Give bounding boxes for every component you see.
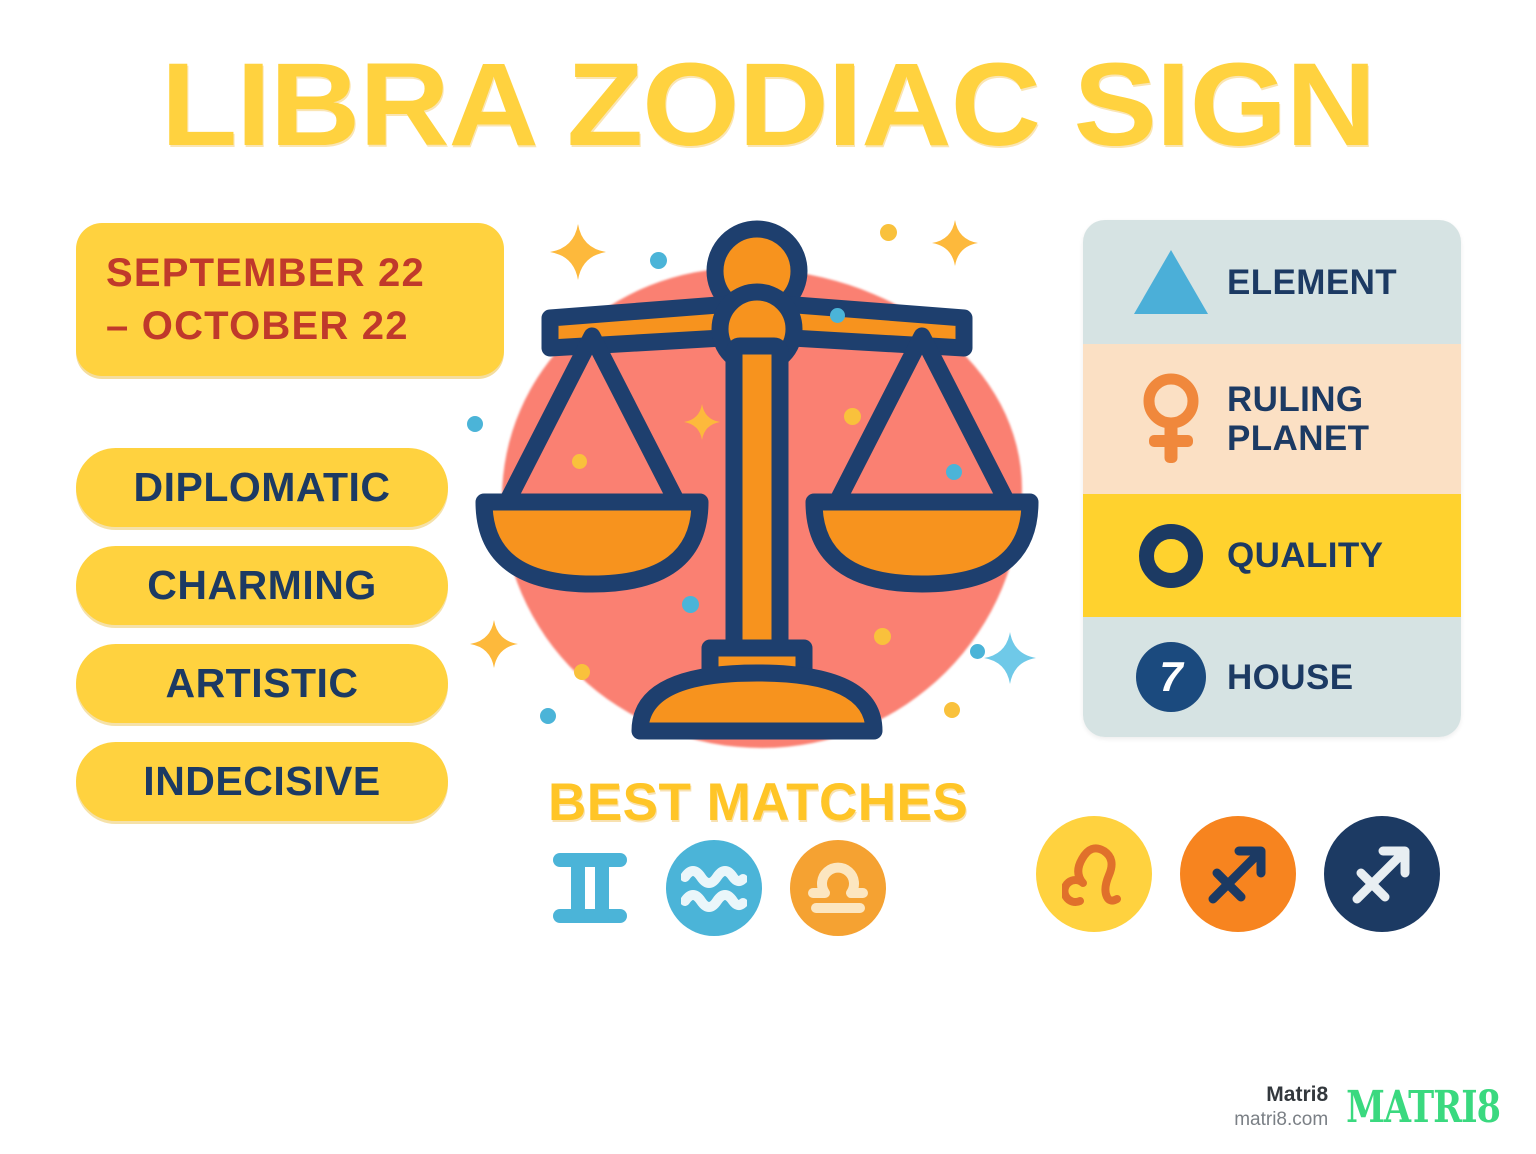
decorative-dot: [682, 596, 699, 613]
trait-pill: INDECISIVE: [76, 742, 448, 821]
decorative-dot: [574, 664, 590, 680]
brand-url: matri8.com: [1234, 1108, 1328, 1132]
decorative-dot: [944, 702, 960, 718]
aquarius-glyph-icon: [681, 861, 747, 915]
cardinal-ring-icon: [1129, 524, 1213, 588]
trait-pill: ARTISTIC: [76, 644, 448, 723]
attribute-label: HOUSE: [1227, 658, 1353, 697]
trait-label: CHARMING: [147, 562, 376, 609]
sparkle-icon: [550, 224, 606, 280]
trait-pill: CHARMING: [76, 546, 448, 625]
air-triangle-icon: [1129, 250, 1213, 314]
date-range-line-1: SEPTEMBER 22: [106, 247, 474, 300]
decorative-dot: [874, 628, 891, 645]
brand-logo: MATRI8: [1346, 1081, 1500, 1132]
trait-label: ARTISTIC: [165, 660, 358, 707]
attributes-panel: ELEMENT RULING PLANET QUALITY 7 HOUSE: [1083, 220, 1461, 737]
sparkle-icon: [684, 404, 720, 440]
infographic-canvas: LIBRA ZODIAC SIGN SEPTEMBER 22 – OCTOBER…: [0, 0, 1536, 1154]
sagittarius-glyph-icon: [1349, 841, 1415, 907]
attribute-row-element: ELEMENT: [1083, 220, 1461, 344]
sparkle-icon: [984, 632, 1036, 684]
sparkle-icon: [470, 620, 518, 668]
date-range-badge: SEPTEMBER 22 – OCTOBER 22: [76, 223, 504, 376]
decorative-dot: [540, 708, 556, 724]
zodiac-circle-sagittarius-alt: [1324, 816, 1440, 932]
brand-name: Matri8: [1234, 1082, 1328, 1108]
aquarius-circle: [666, 840, 762, 936]
decorative-dot: [467, 416, 483, 432]
best-matches-list: [540, 838, 888, 938]
zodiac-circle-sagittarius: [1180, 816, 1296, 932]
decorative-dot: [844, 408, 861, 425]
attribute-row-house: 7 HOUSE: [1083, 617, 1461, 737]
trait-list: DIPLOMATIC CHARMING ARTISTIC INDECISIVE: [76, 448, 448, 840]
gemini-glyph-icon: [547, 845, 633, 931]
scales-of-justice-icon: [462, 196, 1052, 776]
trait-pill: DIPLOMATIC: [76, 448, 448, 527]
venus-symbol-icon: [1129, 371, 1213, 467]
attribute-label: QUALITY: [1227, 536, 1383, 575]
house-number-value: 7: [1136, 642, 1206, 712]
attribute-row-quality: QUALITY: [1083, 494, 1461, 617]
attribute-label: ELEMENT: [1227, 263, 1397, 302]
attribute-row-ruling-planet: RULING PLANET: [1083, 344, 1461, 494]
sagittarius-glyph-icon: [1205, 841, 1271, 907]
sparkle-icon: [932, 220, 978, 266]
decorative-dot: [880, 224, 897, 241]
best-match-libra: [788, 838, 888, 938]
decorative-dot: [830, 308, 845, 323]
leo-glyph-icon: [1062, 839, 1126, 909]
best-match-aquarius: [664, 838, 764, 938]
date-range-line-2: – OCTOBER 22: [106, 300, 474, 353]
footer-text: Matri8 matri8.com: [1234, 1082, 1328, 1132]
decorative-dot: [572, 454, 587, 469]
page-title: LIBRA ZODIAC SIGN: [0, 46, 1536, 164]
house-number-icon: 7: [1129, 642, 1213, 712]
best-matches-title: BEST MATCHES: [548, 772, 968, 833]
libra-glyph-icon: [805, 859, 871, 917]
decorative-dot: [650, 252, 667, 269]
trait-label: DIPLOMATIC: [133, 464, 390, 511]
best-match-gemini: [540, 838, 640, 938]
libra-circle: [790, 840, 886, 936]
trait-label: INDECISIVE: [143, 758, 380, 805]
decorative-dot: [970, 644, 985, 659]
zodiac-circle-leo: [1036, 816, 1152, 932]
attribute-label: RULING PLANET: [1227, 380, 1461, 458]
decorative-dot: [946, 464, 962, 480]
related-signs-list: [1036, 816, 1440, 932]
libra-illustration: [462, 196, 1052, 776]
footer-branding: Matri8 matri8.com MATRI8: [1234, 1082, 1500, 1132]
